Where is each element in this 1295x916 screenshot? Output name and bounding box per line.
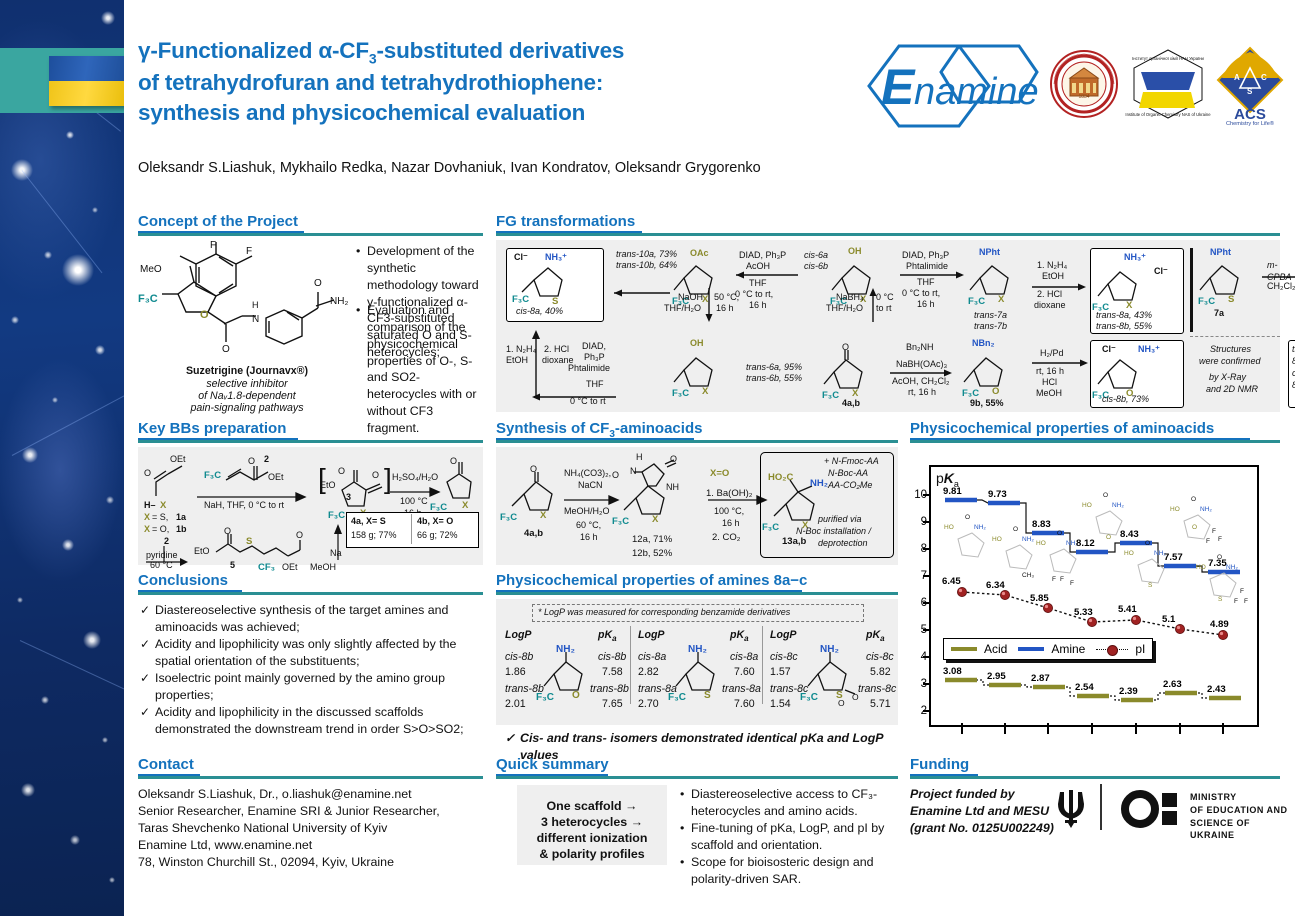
amine-ring-8c: NH₂ F₃C S O O bbox=[806, 644, 876, 706]
legend-swatch-amine bbox=[1018, 647, 1044, 651]
svg-text:O: O bbox=[530, 464, 537, 474]
svg-text:NH₂: NH₂ bbox=[330, 296, 348, 307]
svg-text:O: O bbox=[248, 456, 255, 466]
qs-box-line-1: One scaffold → bbox=[517, 798, 667, 815]
enamine-logo: E namine bbox=[859, 42, 1039, 130]
svg-text:S: S bbox=[246, 536, 252, 547]
funding-line-1: Project funded by bbox=[910, 786, 1015, 803]
trans8-ring: F₃C X bbox=[1096, 266, 1158, 314]
cis6b-label: cis-6b bbox=[804, 261, 828, 273]
svg-text:O: O bbox=[1145, 540, 1150, 547]
label-9b: 9b, 55% bbox=[970, 398, 1004, 410]
contact-line-4: Enamine Ltd, www.enamine.net bbox=[138, 837, 312, 854]
fg-divider-dashed bbox=[1190, 336, 1280, 337]
g2-logp-header: LogP bbox=[638, 628, 664, 642]
funding-line-3: (grant No. 0125U002249) bbox=[910, 820, 1054, 837]
ketone-4ab: O F₃C X bbox=[824, 348, 888, 404]
section-rule bbox=[138, 776, 483, 779]
drug-desc-3: pain-signaling pathways bbox=[152, 401, 342, 415]
g1-logp-header: LogP bbox=[505, 628, 531, 642]
svg-text:O: O bbox=[224, 526, 231, 536]
svg-text:MeOH/H₂O: MeOH/H₂O bbox=[564, 506, 610, 516]
title-line1-part1: γ-Functionalized α-CF bbox=[138, 38, 369, 63]
arrow-down-2 bbox=[704, 288, 714, 322]
legend-swatch-pi bbox=[1096, 645, 1128, 654]
section-rule bbox=[910, 776, 1280, 779]
university-seal-logo: 1834 bbox=[1050, 50, 1118, 118]
svg-text:1a: 1a bbox=[176, 512, 187, 522]
arrow-right-1 bbox=[900, 270, 964, 280]
contact-line-2: Senior Researcher, Enamine SRI & Junior … bbox=[138, 803, 440, 820]
amines-footnote: * LogP was measured for corresponding be… bbox=[538, 607, 790, 619]
svg-text:NH₂: NH₂ bbox=[1022, 536, 1034, 543]
svg-text:OEt: OEt bbox=[282, 562, 298, 572]
amine-label-4: 8.43 bbox=[1120, 529, 1139, 540]
star-ray bbox=[20, 640, 129, 692]
n2h4-left-2: EtOH bbox=[506, 355, 528, 367]
svg-text:Інститут органічної хімії НАН: Інститут органічної хімії НАН України bbox=[1132, 56, 1204, 61]
acid-label-3: 2.54 bbox=[1075, 682, 1094, 693]
section-heading-keybbs: Key BBs preparation bbox=[138, 420, 286, 437]
svg-text:HO: HO bbox=[1196, 564, 1206, 571]
svg-text:F₃C: F₃C bbox=[822, 390, 839, 401]
funding-divider bbox=[1100, 784, 1102, 830]
trans6b-yield: trans-6b, 55% bbox=[746, 373, 802, 385]
note-boc: N-Boc-AA bbox=[828, 468, 868, 480]
svg-text:F₃C: F₃C bbox=[612, 516, 629, 527]
nh3-label-2: NH₃⁺ bbox=[1124, 252, 1146, 264]
synthesis-heading-part2: -aminoacids bbox=[615, 420, 703, 437]
pi-label-6: 4.89 bbox=[1210, 619, 1229, 630]
arrow-right-2 bbox=[1032, 282, 1086, 292]
nbn2-ring: F₃C O bbox=[964, 350, 1026, 404]
svg-text:X=O: X=O bbox=[710, 468, 729, 479]
svg-text:H: H bbox=[636, 452, 643, 462]
synthesis-heading-part1: Synthesis of CF bbox=[496, 420, 609, 437]
svg-text:F: F bbox=[1206, 538, 1210, 545]
amine-label-1: 9.73 bbox=[988, 489, 1007, 500]
pi-label-1: 6.34 bbox=[986, 580, 1005, 591]
svg-text:F₃C: F₃C bbox=[968, 296, 985, 307]
svg-text:S: S bbox=[704, 690, 711, 701]
svg-text:X: X bbox=[998, 294, 1005, 305]
label-7a: 7a bbox=[1214, 308, 1224, 320]
title-line2: of tetrahydrofuran and tetrahydrothiophe… bbox=[138, 68, 878, 98]
acid-label-5: 2.63 bbox=[1163, 679, 1182, 690]
svg-text:F₃C: F₃C bbox=[204, 470, 221, 481]
svg-text:O: O bbox=[1013, 526, 1018, 533]
svg-text:Na: Na bbox=[330, 548, 342, 558]
section-rule bbox=[138, 233, 483, 236]
legend-label-amine: Amine bbox=[1051, 642, 1085, 656]
qs-box-line-4: & polarity profiles bbox=[517, 846, 667, 863]
pi-label-0: 6.45 bbox=[942, 576, 961, 587]
svg-text:F₃C: F₃C bbox=[512, 294, 529, 305]
suzetrigine-structure: F F MeO F₃C O O H N O NH₂ bbox=[138, 242, 356, 362]
svg-text:O: O bbox=[965, 514, 970, 521]
svg-text:Institute of Organic Chemistry: Institute of Organic Chemistry NAS of Uk… bbox=[1125, 112, 1211, 117]
trans8b-yield: trans-8b, 55% bbox=[1096, 321, 1152, 333]
svg-text:F₃C: F₃C bbox=[500, 512, 517, 523]
svg-text:12a, 71%: 12a, 71% bbox=[632, 534, 673, 545]
fg-divider-vertical bbox=[1190, 248, 1193, 332]
g2-cis-logp: 2.82 bbox=[638, 665, 659, 679]
xray-note-2: were confirmed bbox=[1199, 356, 1261, 368]
section-heading-physchem-aa: Physicochemical properties of aminoacids bbox=[910, 420, 1214, 437]
svg-text:O: O bbox=[670, 454, 677, 464]
arrow-up-1 bbox=[868, 288, 878, 322]
svg-text:F: F bbox=[1218, 536, 1222, 543]
legend-swatch-acid bbox=[951, 647, 977, 651]
svg-text:NH₂: NH₂ bbox=[974, 524, 986, 531]
svg-text:X: X bbox=[462, 500, 469, 511]
svg-text:O: O bbox=[1103, 492, 1108, 499]
pi-label-4: 5.41 bbox=[1118, 604, 1137, 615]
svg-text:N: N bbox=[252, 314, 259, 325]
svg-text:F: F bbox=[1240, 588, 1244, 595]
cond-diad-pht-5: 16 h bbox=[917, 299, 935, 311]
npht-ring-1: F₃C X bbox=[970, 258, 1032, 312]
conclusion-4: Acidity and lipophilicity in the discuss… bbox=[155, 704, 485, 738]
svg-text:1. Ba(OH)₂: 1. Ba(OH)₂ bbox=[706, 488, 753, 499]
svg-text:NaH, THF, 0 °C to rt: NaH, THF, 0 °C to rt bbox=[204, 500, 284, 510]
conclusion-2: Acidity and lipophilicity was only sligh… bbox=[155, 636, 485, 670]
g1-cis-name: cis-8b bbox=[505, 650, 533, 664]
svg-text:O: O bbox=[612, 470, 619, 480]
svg-text:F₃C: F₃C bbox=[672, 388, 689, 399]
svg-text:HO: HO bbox=[1170, 506, 1180, 513]
qs-bullet-2: Fine-tuning of pKa, LogP, and pI by scaf… bbox=[691, 820, 891, 854]
to-rt-label: to rt bbox=[876, 303, 892, 315]
svg-text:F: F bbox=[1244, 598, 1248, 605]
ministry-line-2: OF EDUCATION AND bbox=[1190, 805, 1288, 817]
qs-box-line-2: 3 heterocycles → bbox=[517, 814, 667, 831]
svg-text:F: F bbox=[246, 246, 252, 257]
svg-text:C: C bbox=[1261, 73, 1267, 82]
ukraine-flag-icon bbox=[49, 56, 133, 106]
svg-text:O: O bbox=[838, 698, 845, 708]
section-heading-amines: Physicochemical properties of amines 8a−… bbox=[496, 572, 807, 589]
svg-text:O: O bbox=[372, 470, 379, 480]
svg-text:= S,: = S, bbox=[152, 512, 168, 522]
svg-text:X: X bbox=[160, 500, 167, 511]
decorative-starfield-strip bbox=[0, 0, 124, 916]
g2-trans-logp: 2.70 bbox=[638, 697, 659, 711]
svg-text:O: O bbox=[296, 530, 303, 540]
author-list: Oleksandr S.Liashuk, Mykhailo Redka, Naz… bbox=[138, 160, 898, 176]
amines-divider-1 bbox=[630, 626, 631, 704]
legend-label-acid: Acid bbox=[984, 642, 1007, 656]
qs-bullet-3: Scope for bioisosteric design and polari… bbox=[691, 854, 891, 888]
section-rule bbox=[496, 592, 898, 595]
arrow-right-4 bbox=[890, 368, 952, 378]
svg-text:100 °C: 100 °C bbox=[400, 496, 428, 506]
svg-text:NH₂: NH₂ bbox=[820, 644, 839, 655]
amine-label-2: 8.83 bbox=[1032, 519, 1051, 530]
amine-label-3: 8.12 bbox=[1076, 538, 1095, 549]
svg-text:2: 2 bbox=[164, 536, 169, 546]
oh-label-bottom: OH bbox=[690, 338, 704, 350]
section-heading-conclusions: Conclusions bbox=[138, 572, 228, 589]
conclusion-1: Diastereoselective synthesis of the targ… bbox=[155, 602, 485, 636]
svg-text:NH₂: NH₂ bbox=[1200, 506, 1212, 513]
svg-text:= O,: = O, bbox=[152, 524, 169, 534]
thfh2o-label-1: THF/H₂O bbox=[664, 303, 701, 315]
svg-text:OEt: OEt bbox=[268, 472, 284, 482]
institute-logo: Інститут органічної хімії НАН України In… bbox=[1131, 48, 1205, 120]
diad-left-5: 0 °C to rt bbox=[570, 396, 606, 408]
arrow-left-2 bbox=[732, 270, 798, 280]
svg-text:O: O bbox=[992, 386, 999, 397]
rt16h-label: rt, 16 h bbox=[908, 387, 936, 399]
svg-text:F: F bbox=[1052, 576, 1056, 583]
svg-text:HO: HO bbox=[992, 536, 1002, 543]
ukraine-trident-icon bbox=[1054, 786, 1088, 828]
xray-note-3: by X-Ray bbox=[1209, 372, 1246, 384]
svg-text:X: X bbox=[144, 512, 150, 522]
svg-text:X: X bbox=[540, 510, 547, 521]
box4a-label: 4a, X= S bbox=[351, 516, 386, 528]
svg-text:O: O bbox=[1106, 534, 1111, 541]
pi-label-2: 5.85 bbox=[1030, 593, 1049, 604]
svg-text:X: X bbox=[702, 386, 709, 397]
svg-text:F₃C: F₃C bbox=[1198, 296, 1215, 307]
svg-text:]: ] bbox=[384, 463, 392, 494]
arrow-left-1 bbox=[604, 288, 670, 298]
g1-pka-header: pKa bbox=[598, 628, 617, 645]
note-fmoc: + N-Fmoc-AA bbox=[824, 456, 879, 468]
amine-label-0: 9.81 bbox=[943, 486, 962, 497]
sulfoxide-ring-11c: F₃C S O ║ bbox=[1252, 258, 1295, 318]
svg-text:F₃C: F₃C bbox=[138, 293, 158, 305]
svg-text:F₃C: F₃C bbox=[536, 692, 554, 703]
acid-label-4: 2.39 bbox=[1119, 686, 1138, 697]
svg-text:namine: namine bbox=[914, 71, 1039, 113]
svg-text:H: H bbox=[252, 300, 259, 310]
box4a-yield: 158 g; 77% bbox=[351, 530, 397, 542]
purify-2: N-Boc installation / bbox=[796, 526, 871, 538]
nbn2-label: NBn₂ bbox=[972, 338, 995, 350]
svg-text:NH₄(CO3)₂,: NH₄(CO3)₂, bbox=[564, 468, 611, 478]
g1-cis-logp: 1.86 bbox=[505, 665, 526, 679]
pi-label-3: 5.33 bbox=[1074, 607, 1093, 618]
section-rule bbox=[910, 440, 1280, 443]
section-rule bbox=[496, 440, 898, 443]
chart-legend: Acid Amine pI bbox=[943, 638, 1153, 660]
svg-text:MeO: MeO bbox=[140, 264, 162, 275]
g2-pka-header: pKa bbox=[730, 628, 749, 645]
g3-cis-logp: 1.57 bbox=[770, 665, 791, 679]
pi-label-5: 5.1 bbox=[1162, 614, 1175, 625]
svg-text:MeOH: MeOH bbox=[310, 562, 336, 572]
acid-label-0: 3.08 bbox=[943, 666, 962, 677]
box4b-label: 4b, X= O bbox=[417, 516, 453, 528]
contact-line-1: Oleksandr S.Liashuk, Dr., o.liashuk@enam… bbox=[138, 786, 412, 803]
svg-text:N: N bbox=[630, 466, 637, 476]
svg-text:X: X bbox=[144, 524, 150, 534]
thfh2o-label-2: THF/H₂O bbox=[826, 303, 863, 315]
g3-cis-name: cis-8c bbox=[770, 650, 798, 664]
amine-ring-8a: NH₂ F₃C S bbox=[674, 644, 738, 706]
section-rule bbox=[496, 776, 898, 779]
arrow-right-5 bbox=[1032, 358, 1088, 368]
svg-text:pyridine: pyridine bbox=[146, 550, 178, 560]
svg-text:A: A bbox=[1234, 73, 1240, 82]
mesu-logo-icon bbox=[1122, 790, 1182, 828]
svg-text:1834: 1834 bbox=[1078, 94, 1089, 100]
svg-text:4a,b: 4a,b bbox=[524, 528, 543, 539]
svg-text:EtO: EtO bbox=[194, 546, 210, 556]
section-heading-fg: FG transformations bbox=[496, 213, 635, 230]
bn2nh-label: Bn₂NH bbox=[906, 342, 934, 354]
svg-text:S: S bbox=[1218, 596, 1223, 603]
cis8b-yield: cis-8b, 73% bbox=[1102, 394, 1149, 406]
svg-text:X: X bbox=[652, 514, 659, 525]
svg-text:F: F bbox=[1060, 576, 1064, 583]
qs-box-line-3: different ionization bbox=[517, 830, 667, 847]
svg-text:O: O bbox=[338, 466, 345, 476]
svg-text:O: O bbox=[314, 278, 322, 289]
funding-line-2: Enamine Ltd and MESU bbox=[910, 803, 1049, 820]
svg-text:HO: HO bbox=[944, 524, 954, 531]
svg-text:O: O bbox=[1057, 530, 1062, 537]
title-line1-part2: -substituted derivatives bbox=[376, 38, 624, 63]
section-rule bbox=[496, 233, 1280, 236]
trans7b-label: trans-7b bbox=[974, 321, 1007, 333]
svg-text:16 h: 16 h bbox=[722, 518, 740, 528]
acid-label-1: 2.95 bbox=[987, 671, 1006, 682]
amine-label-5: 7.57 bbox=[1164, 552, 1183, 563]
svg-text:O: O bbox=[144, 468, 151, 478]
qs-bullet-1: Diastereoselective access to CF₃-heteroc… bbox=[691, 786, 891, 820]
cis8a-yield: cis-8a, 40% bbox=[516, 306, 563, 318]
star-ray bbox=[22, 170, 103, 273]
diad-left-4: THF bbox=[586, 379, 604, 391]
diad-left-3: Phtalimide bbox=[568, 363, 610, 375]
amines-footnote-box: * LogP was measured for corresponding be… bbox=[532, 604, 864, 622]
svg-text:16 h: 16 h bbox=[580, 532, 598, 542]
g3-pka-header: pKa bbox=[866, 628, 885, 645]
cond-hcl-2: dioxane bbox=[1034, 300, 1066, 312]
ministry-line-1: MINISTRY bbox=[1190, 792, 1237, 804]
svg-text:F: F bbox=[1234, 598, 1238, 605]
svg-text:O: O bbox=[450, 456, 457, 466]
g3-logp-header: LogP bbox=[770, 628, 796, 642]
svg-text:O: O bbox=[572, 690, 580, 701]
svg-text:NH₂: NH₂ bbox=[1112, 502, 1124, 509]
concept-bullet-2: Evaluation and comparison of the physico… bbox=[367, 302, 485, 437]
svg-text:NH₂: NH₂ bbox=[1226, 564, 1238, 571]
svg-text:NaCN: NaCN bbox=[578, 480, 603, 490]
svg-text:2. CO₂: 2. CO₂ bbox=[712, 532, 741, 543]
svg-text:H–: H– bbox=[144, 500, 156, 510]
amine-label-6: 7.35 bbox=[1208, 558, 1227, 569]
g2-cis-name: cis-8a bbox=[638, 650, 666, 664]
svg-text:100 °C,: 100 °C, bbox=[714, 506, 744, 516]
svg-text:CH₃: CH₃ bbox=[1022, 572, 1034, 579]
time16-label-1: 16 h bbox=[716, 303, 734, 315]
section-heading-contact: Contact bbox=[138, 756, 194, 773]
svg-text:F: F bbox=[1212, 528, 1216, 535]
svg-text:1b: 1b bbox=[176, 524, 187, 534]
purify-3: deprotection bbox=[818, 538, 868, 550]
svg-text:O: O bbox=[200, 309, 209, 321]
svg-text:5: 5 bbox=[230, 560, 235, 570]
xray-note-4: and 2D NMR bbox=[1206, 384, 1258, 396]
svg-text:HO: HO bbox=[1124, 550, 1134, 557]
g1-trans-logp: 2.01 bbox=[505, 697, 526, 711]
meoh-label: MeOH bbox=[1036, 388, 1062, 400]
amine-ring-8b: NH₂ F₃C O bbox=[542, 644, 606, 706]
svg-text:O: O bbox=[1192, 524, 1197, 531]
acid-label-2: 2.87 bbox=[1031, 673, 1050, 684]
drug-name: Suzetrigine (Journavx®) bbox=[152, 364, 342, 378]
svg-text:2: 2 bbox=[264, 454, 269, 464]
cis8a-ring: F₃C S bbox=[512, 262, 600, 312]
svg-text:F₃C: F₃C bbox=[328, 510, 345, 521]
svg-text:O: O bbox=[222, 344, 230, 355]
arrow-up-2 bbox=[530, 330, 542, 398]
section-heading-quick-summary: Quick summary bbox=[496, 756, 609, 773]
acid-label-6: 2.43 bbox=[1207, 684, 1226, 695]
svg-text:Chemistry for Life®: Chemistry for Life® bbox=[1226, 120, 1275, 127]
svg-text:60 °C,: 60 °C, bbox=[576, 520, 601, 530]
svg-text:S: S bbox=[1148, 582, 1153, 589]
section-rule bbox=[138, 440, 483, 443]
svg-text:12b, 52%: 12b, 52% bbox=[632, 548, 673, 559]
box4b-yield: 66 g; 72% bbox=[417, 530, 458, 542]
svg-text:E: E bbox=[881, 59, 916, 115]
svg-text:NH₂: NH₂ bbox=[556, 644, 575, 655]
legend-label-pi: pI bbox=[1135, 642, 1145, 656]
svg-text:O: O bbox=[1191, 496, 1196, 503]
oh-ring-bottom: F₃C X bbox=[674, 350, 736, 404]
trans10b-yield: trans-10b, 64% bbox=[616, 260, 677, 272]
svg-text:S: S bbox=[1228, 294, 1234, 305]
conclusion-3: Isoelectric point mainly governed by the… bbox=[155, 670, 485, 704]
poster-title: γ-Functionalized α-CF3-substituted deriv… bbox=[138, 36, 878, 127]
amines-divider-2 bbox=[762, 626, 763, 704]
label-4ab-fg: 4a,b bbox=[842, 398, 860, 410]
contact-line-5: 78, Winston Churchill St., 02094, Kyiv, … bbox=[138, 854, 394, 871]
ministry-line-3: SCIENCE OF UKRAINE bbox=[1190, 818, 1295, 842]
note-come: AA-CO₂Me bbox=[828, 480, 872, 492]
svg-text:HO: HO bbox=[1036, 540, 1046, 547]
svg-text:F: F bbox=[1070, 580, 1074, 587]
oh-label-top: OH bbox=[848, 246, 862, 258]
contact-line-3: Taras Shevchenko National University of … bbox=[138, 820, 387, 837]
keybbs-scheme: OEt O H– X F₃C O 2 OEt NaH, THF, 0 °C to… bbox=[142, 452, 482, 566]
acs-logo: A C S ACS Chemistry for Life® bbox=[1214, 46, 1286, 124]
section-rule bbox=[138, 592, 483, 595]
svg-text:NH₂: NH₂ bbox=[688, 644, 707, 655]
svg-text:EtO: EtO bbox=[320, 480, 336, 490]
svg-text:CF₃: CF₃ bbox=[258, 562, 275, 573]
logo-row: E namine 1834 Інститут органічної хімії … bbox=[859, 34, 1279, 140]
chart-container: pKa 10 9 8 7 6 5 4 3 2 bbox=[910, 447, 1280, 741]
svg-text:HO: HO bbox=[1082, 502, 1092, 509]
svg-text:OEt: OEt bbox=[170, 454, 186, 464]
svg-text:H₂SO₄/H₂O: H₂SO₄/H₂O bbox=[392, 472, 438, 482]
svg-text:O: O bbox=[842, 342, 849, 352]
svg-text:S: S bbox=[1247, 87, 1253, 96]
svg-text:3: 3 bbox=[346, 492, 351, 502]
section-heading-concept: Concept of the Project bbox=[138, 213, 298, 230]
cond-diad-acoh-5: 16 h bbox=[749, 300, 767, 312]
title-line3: synthesis and physicochemical evaluation bbox=[138, 98, 878, 128]
svg-text:F₃C: F₃C bbox=[668, 692, 686, 703]
svg-text:F: F bbox=[210, 240, 216, 251]
